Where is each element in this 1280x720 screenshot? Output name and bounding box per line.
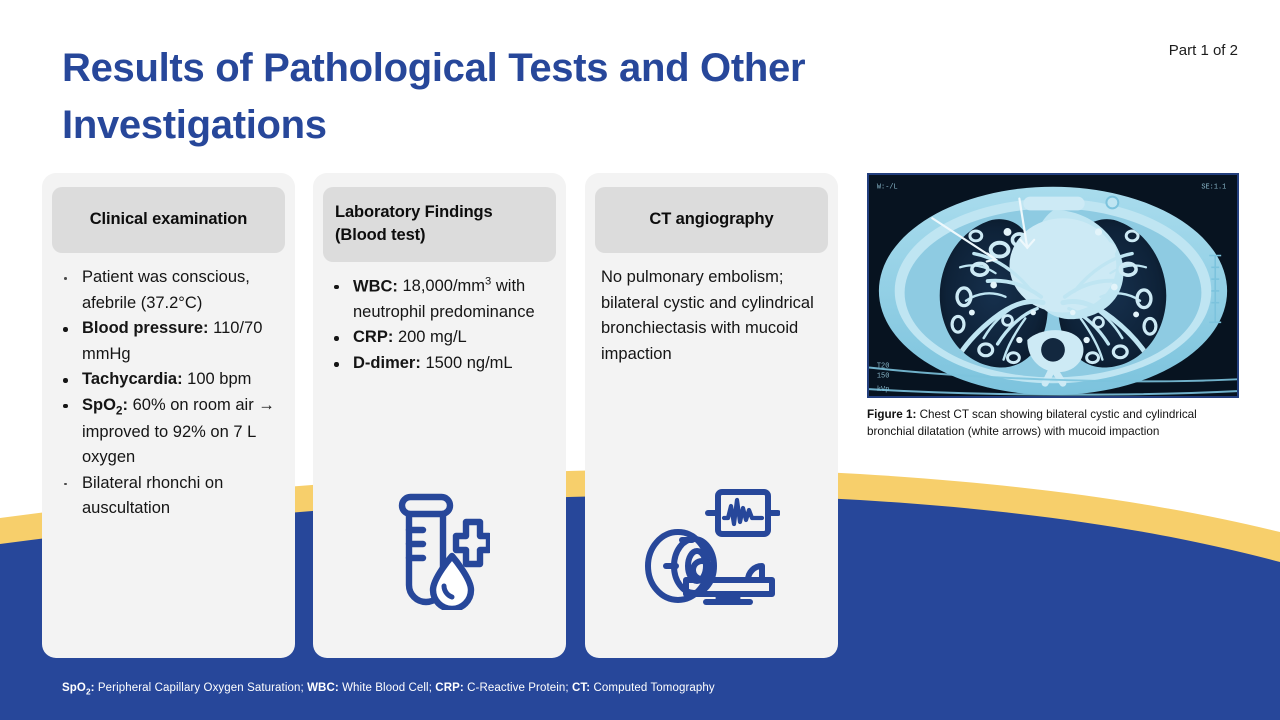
abbr-wbc-meaning: White Blood Cell;: [342, 682, 432, 694]
svg-text:150: 150: [877, 372, 889, 380]
list-item-label: SpO2:: [82, 396, 128, 414]
card-body-clinical-examination: Patient was conscious, afebrile (37.2°C)…: [42, 253, 295, 522]
card-laboratory-findings: Laboratory Findings (Blood test) WBC: 18…: [313, 173, 566, 658]
list-item: WBC: 18,000/mm3 with neutrophil predomin…: [327, 274, 552, 326]
laboratory-findings-list: WBC: 18,000/mm3 with neutrophil predomin…: [327, 274, 552, 377]
list-item-label: Blood pressure:: [82, 319, 209, 337]
list-item-label: WBC:: [353, 277, 398, 295]
list-item-text: 1500 ng/mL: [425, 354, 512, 372]
card-header-clinical-examination: Clinical examination: [52, 187, 285, 253]
card-body-ct-angiography: No pulmonary embolism; bilateral cystic …: [585, 253, 838, 367]
blood-test-tube-icon: [313, 492, 566, 610]
svg-text:W:-/L: W:-/L: [877, 184, 898, 192]
abbr-crp: CRP:: [435, 682, 464, 694]
ct-scanner-icon: [585, 488, 838, 606]
list-item-label: D-dimer:: [353, 354, 421, 372]
list-item: CRP: 200 mg/L: [327, 325, 552, 351]
card-header-ct-angiography: CT angiography: [595, 187, 828, 253]
list-item: Tachycardia: 100 bpm: [56, 367, 281, 393]
list-item-text: Patient was conscious, afebrile (37.2°C): [82, 268, 250, 312]
list-item-label: CRP:: [353, 328, 393, 346]
chest-ct-figure: W:-/L SE:1.1 T20 150 kVp: [867, 173, 1239, 440]
list-item-text: 200 mg/L: [398, 328, 467, 346]
list-item: Patient was conscious, afebrile (37.2°C): [56, 265, 281, 316]
ct-angiography-text: No pulmonary embolism; bilateral cystic …: [599, 265, 824, 367]
page-title: Results of Pathological Tests and Other …: [62, 40, 822, 154]
abbr-ct: CT:: [572, 682, 590, 694]
abbr-spo2: SpO2:: [62, 682, 95, 694]
figure-caption: Figure 1: Chest CT scan showing bilatera…: [867, 407, 1222, 440]
card-header-laboratory-findings: Laboratory Findings (Blood test): [323, 187, 556, 262]
list-item-text: 100 bpm: [187, 370, 251, 388]
list-item-text: Bilateral rhonchi on auscultation: [82, 474, 223, 518]
abbr-crp-meaning: C-Reactive Protein;: [467, 682, 569, 694]
card-header-label: Clinical examination: [90, 208, 248, 231]
list-item: D-dimer: 1500 ng/mL: [327, 351, 552, 377]
card-body-laboratory-findings: WBC: 18,000/mm3 with neutrophil predomin…: [313, 262, 566, 377]
chest-ct-scan-image: W:-/L SE:1.1 T20 150 kVp: [867, 173, 1239, 398]
figure-caption-text: Chest CT scan showing bilateral cystic a…: [867, 408, 1197, 438]
card-header-label: CT angiography: [649, 208, 773, 231]
card-header-label: Laboratory Findings (Blood test): [335, 201, 544, 248]
card-ct-angiography: CT angiography No pulmonary embolism; bi…: [585, 173, 838, 658]
footer-abbreviations: SpO2: Peripheral Capillary Oxygen Satura…: [62, 682, 715, 696]
list-item: SpO2: 60% on room air → improved to 92% …: [56, 393, 281, 471]
clinical-findings-list: Patient was conscious, afebrile (37.2°C)…: [56, 265, 281, 522]
spo2-abbr-inline: SpO2:: [82, 396, 128, 414]
list-item: Blood pressure: 110/70 mmHg: [56, 316, 281, 367]
list-item-label: Tachycardia:: [82, 370, 183, 388]
list-item: Bilateral rhonchi on auscultation: [56, 471, 281, 522]
figure-caption-label: Figure 1:: [867, 408, 916, 421]
abbr-spo2-meaning: Peripheral Capillary Oxygen Saturation;: [98, 682, 304, 694]
abbr-ct-meaning: Computed Tomography: [594, 682, 715, 694]
part-indicator: Part 1 of 2: [1169, 42, 1238, 59]
card-clinical-examination: Clinical examination Patient was conscio…: [42, 173, 295, 658]
abbr-wbc: WBC:: [307, 682, 339, 694]
svg-text:SE:1.1: SE:1.1: [1201, 184, 1226, 192]
